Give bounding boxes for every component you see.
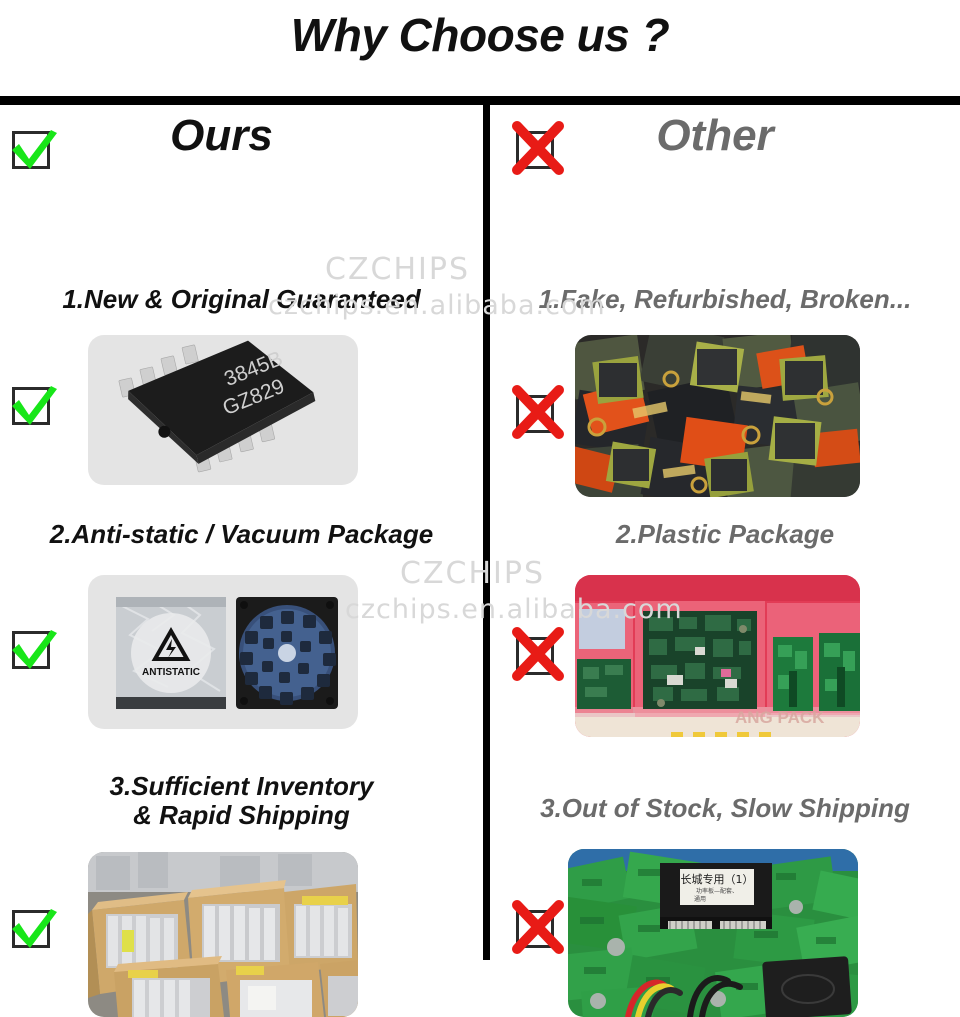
row-caption: 2.Anti-static / Vacuum Package bbox=[0, 520, 483, 549]
photo-inventory-cartons bbox=[88, 852, 358, 1017]
svg-text:长城专用（1）: 长城专用（1） bbox=[681, 872, 754, 886]
row-caption-line1: 2.Anti-static / Vacuum Package bbox=[50, 519, 433, 549]
cross-icon bbox=[512, 629, 564, 681]
column-ours: Ours 1.New & Original Guaranteed bbox=[0, 105, 483, 960]
cross-icon bbox=[512, 387, 564, 439]
row-caption: 1.New & Original Guaranteed bbox=[0, 285, 483, 314]
plastic-package-illustration: ANG PACK bbox=[575, 575, 860, 737]
check-icon bbox=[8, 623, 60, 675]
row-caption: 1.Fake, Refurbished, Broken... bbox=[490, 285, 960, 314]
row-caption-line1: 1.New & Original Guaranteed bbox=[62, 284, 420, 314]
column-header-other: Other bbox=[490, 105, 960, 197]
page-title: Why Choose us ? bbox=[0, 8, 960, 62]
photo-scrap-chips bbox=[575, 335, 860, 497]
photo-plastic-package: ANG PACK bbox=[575, 575, 860, 737]
row-caption-line1: 3.Out of Stock, Slow Shipping bbox=[540, 793, 910, 823]
row-caption: 3.Out of Stock, Slow Shipping bbox=[490, 794, 960, 823]
check-icon bbox=[8, 379, 60, 431]
row-caption: 2.Plastic Package bbox=[490, 520, 960, 549]
photo-antistatic-package: ANTISTATIC bbox=[88, 575, 358, 729]
column-title-other: Other bbox=[490, 111, 960, 161]
antistatic-bag-illustration: ANTISTATIC bbox=[88, 575, 358, 729]
ic-chip-illustration: 3845B GZ829 bbox=[88, 335, 358, 485]
row-caption: 3.Sufficient Inventory & Rapid Shipping bbox=[0, 772, 483, 830]
photo-ic-chip: 3845B GZ829 bbox=[88, 335, 358, 485]
check-glyph bbox=[8, 379, 60, 431]
cross-icon bbox=[512, 902, 564, 954]
comparison-infographic: Why Choose us ? Ours 1.New & Original Gu… bbox=[0, 0, 960, 960]
svg-text:功率板—配套、: 功率板—配套、 bbox=[696, 887, 738, 895]
row-caption-line1: 3.Sufficient Inventory bbox=[110, 771, 374, 801]
check-glyph bbox=[8, 623, 60, 675]
photo-scrap-pcb-pile: 长城专用（1） 功率板—配套、 通用 bbox=[568, 849, 858, 1017]
check-icon bbox=[8, 902, 60, 954]
row-caption-line1: 2.Plastic Package bbox=[616, 519, 834, 549]
scrap-pcb-illustration: 长城专用（1） 功率板—配套、 通用 bbox=[568, 849, 858, 1017]
svg-text:ANTISTATIC: ANTISTATIC bbox=[142, 667, 200, 678]
cross-glyph bbox=[512, 902, 564, 954]
check-glyph bbox=[8, 902, 60, 954]
row-caption-line1: 1.Fake, Refurbished, Broken... bbox=[539, 284, 912, 314]
vertical-divider bbox=[483, 105, 490, 960]
svg-text:通用: 通用 bbox=[694, 895, 706, 903]
cartons-illustration bbox=[88, 852, 358, 1017]
column-header-ours: Ours bbox=[0, 105, 483, 197]
horizontal-divider bbox=[0, 96, 960, 105]
column-title-ours: Ours bbox=[0, 111, 483, 161]
svg-text:ANG PACK: ANG PACK bbox=[735, 708, 825, 727]
column-other: Other 1.Fake, Refurbished, Broken... bbox=[490, 105, 960, 960]
cross-glyph bbox=[512, 387, 564, 439]
scrap-chips-illustration bbox=[575, 335, 860, 497]
row-caption-line2: & Rapid Shipping bbox=[0, 801, 483, 830]
cross-glyph bbox=[512, 629, 564, 681]
